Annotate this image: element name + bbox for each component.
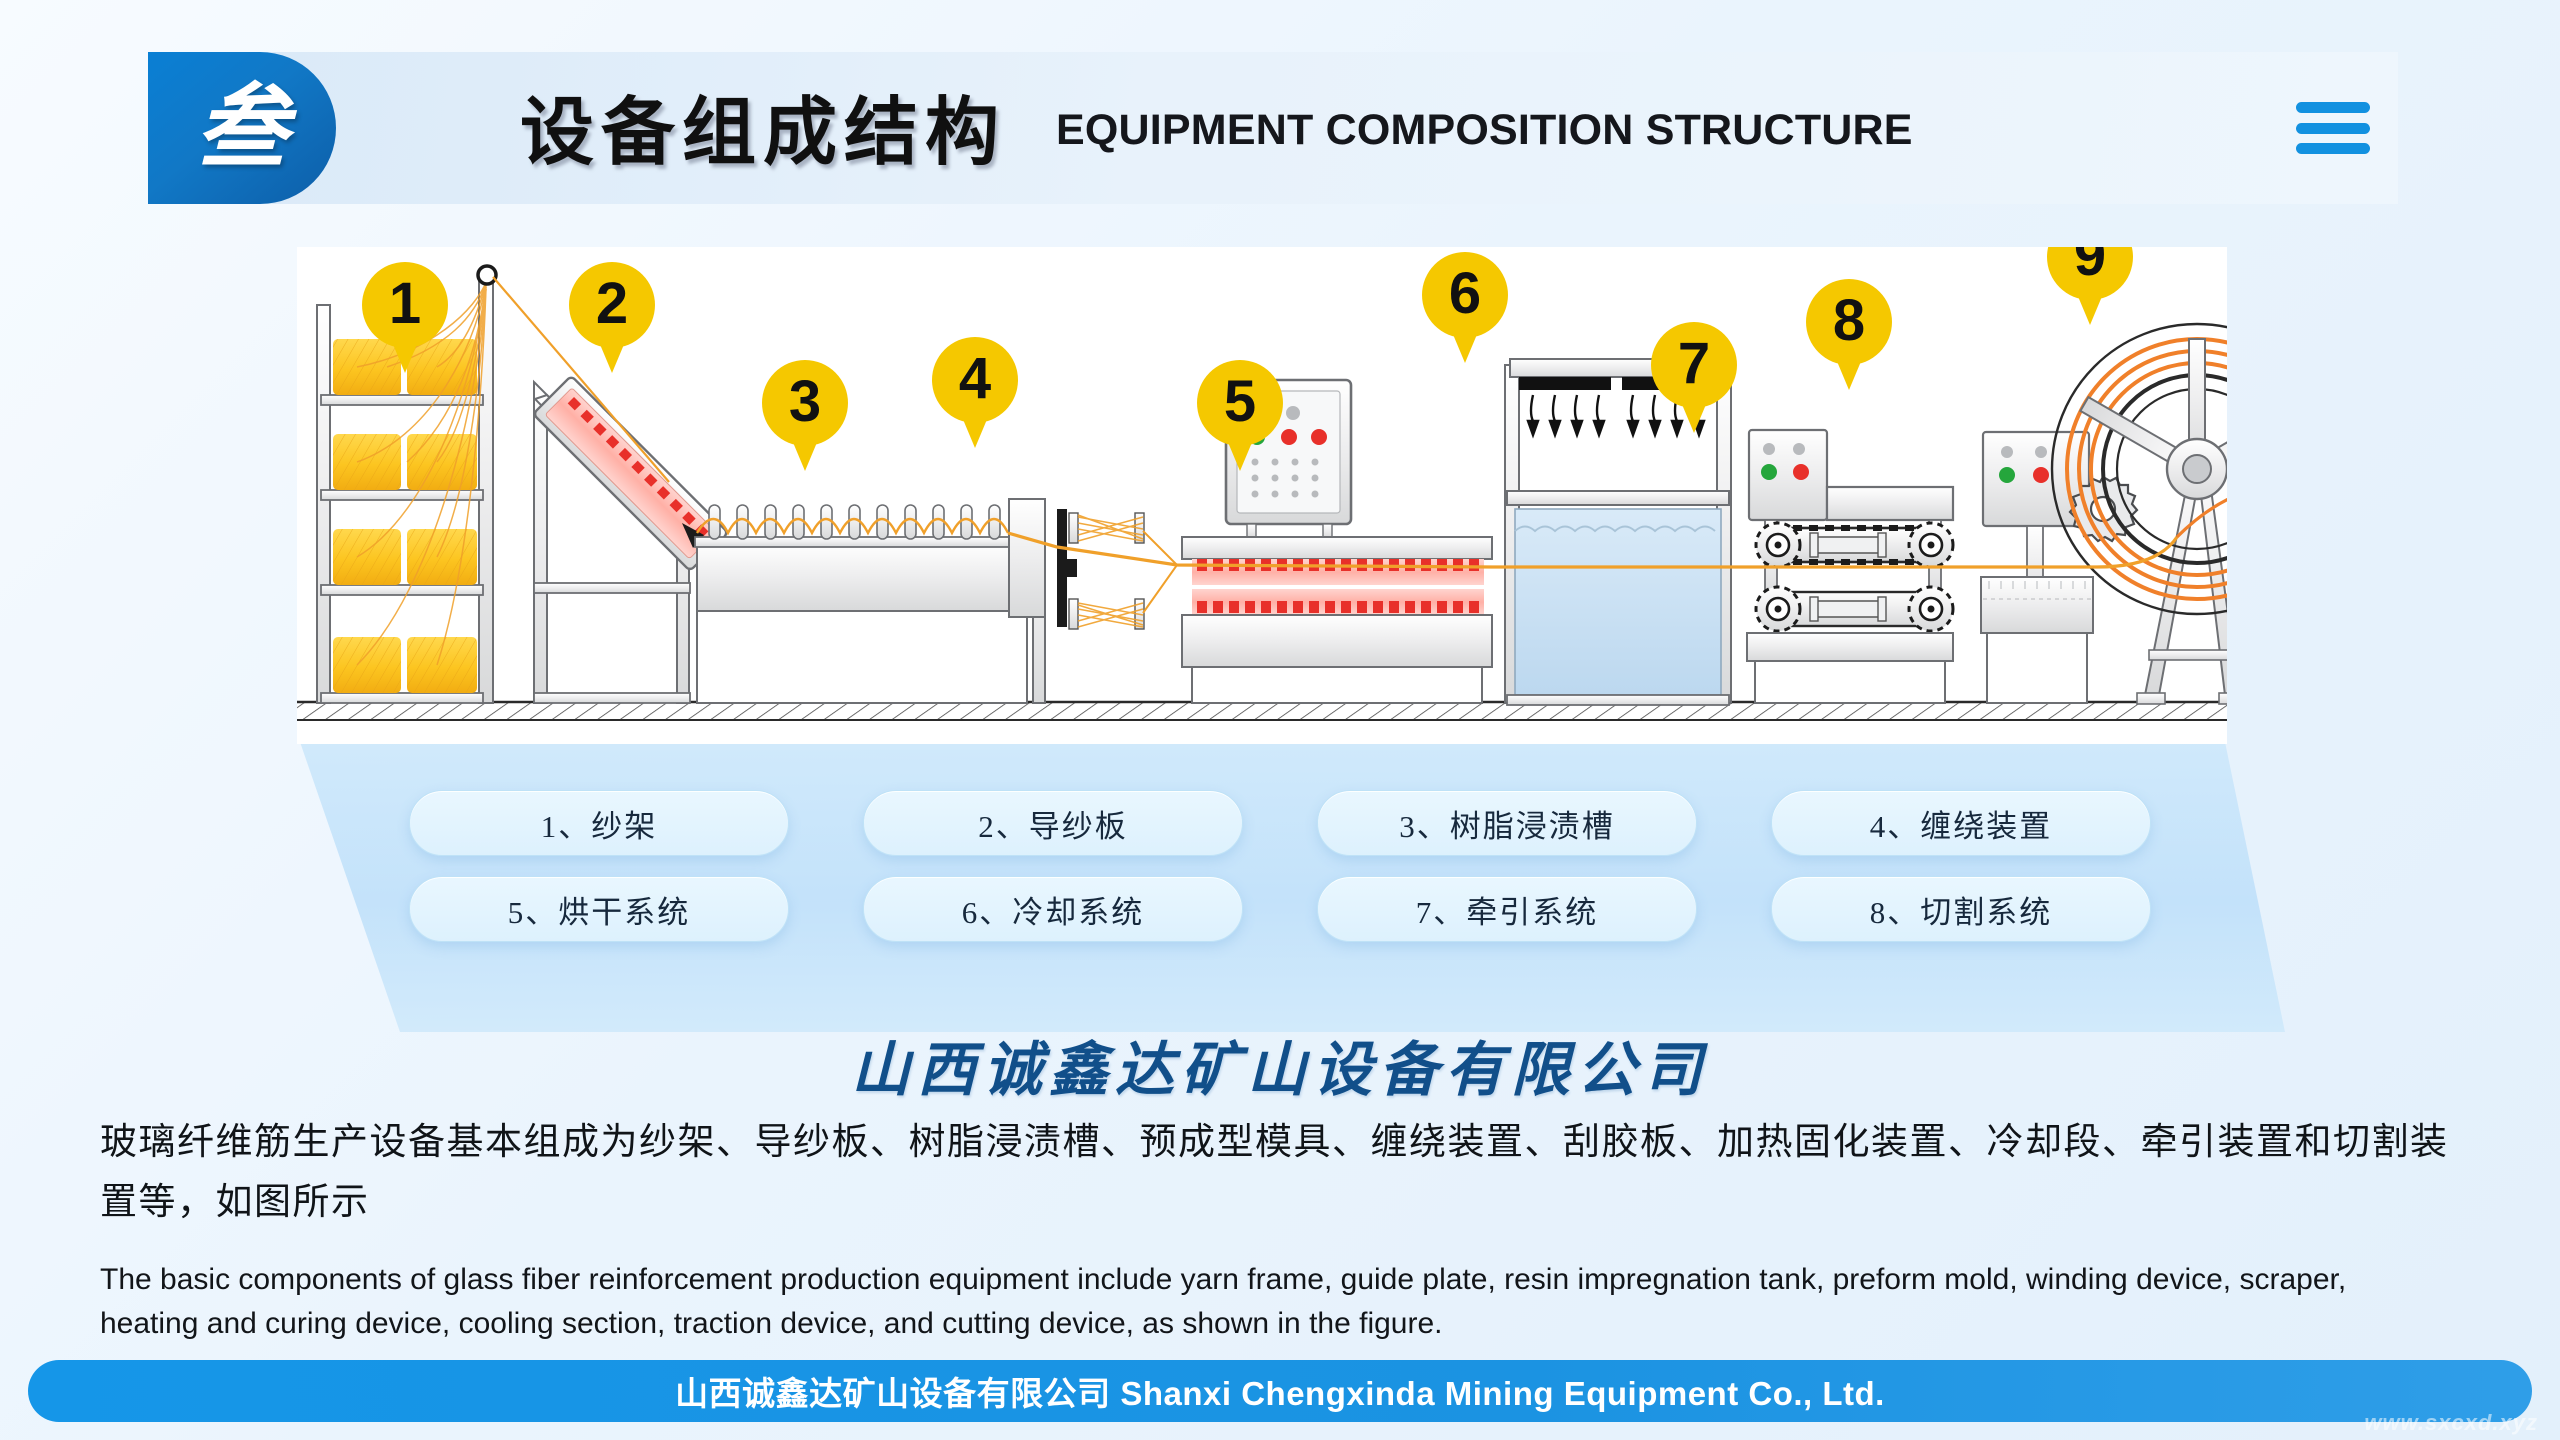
component-label-4[interactable]: 4、缠绕装置 [1771,790,2151,856]
hamburger-menu-icon[interactable] [2296,102,2370,154]
component-label-5[interactable]: 5、烘干系统 [409,876,789,942]
svg-text:2: 2 [596,271,628,336]
company-name-heading: 山西诚鑫达矿山设备有限公司 [0,1022,2560,1107]
callout-pin-4: 4 [932,337,1018,448]
component-label-1[interactable]: 1、纱架 [409,790,789,856]
hamburger-bar-3 [2296,143,2370,154]
yarn-eyelet [478,266,496,284]
svg-text:5: 5 [1224,369,1256,434]
description-en: The basic components of glass fiber rein… [100,1258,2430,1345]
section-number-char: 叁 [196,82,288,174]
resin-impregnation-assembly [695,505,1029,703]
callout-pin-8: 8 [1806,279,1892,390]
page-title-en: EQUIPMENT COMPOSITION STRUCTURE [1056,106,1913,155]
callout-pin-9: 9 [2047,247,2133,325]
guide-pins [709,505,1000,539]
svg-text:8: 8 [1833,288,1865,353]
callout-pin-2: 2 [569,262,655,373]
component-label-8[interactable]: 8、切割系统 [1771,876,2151,942]
component-label-2[interactable]: 2、导纱板 [863,790,1243,856]
page-header: 叁 设备组成结构 EQUIPMENT COMPOSITION STRUCTURE [148,52,2398,204]
footer-company-text: 山西诚鑫达矿山设备有限公司 Shanxi Chengxinda Mining E… [675,1367,1885,1415]
svg-text:6: 6 [1449,261,1481,326]
svg-text:1: 1 [389,271,421,336]
component-label-3[interactable]: 3、树脂浸渍槽 [1317,790,1697,856]
svg-text:9: 9 [2074,247,2106,288]
description-cn: 玻璃纤维筋生产设备基本组成为纱架、导纱板、树脂浸渍槽、预成型模具、缠绕装置、刮胶… [100,1113,2470,1233]
cooling-water-tank [1515,509,1721,695]
winding-device-assembly [1009,499,1177,703]
component-label-row-1: 1、纱架 2、导纱板 3、树脂浸渍槽 4、缠绕装置 [0,790,2560,856]
hamburger-bar-2 [2296,123,2370,134]
winding-threads [1078,515,1143,627]
yarn-packages [333,339,477,693]
component-label-row-2: 5、烘干系统 6、冷却系统 7、牵引系统 8、切割系统 [0,876,2560,942]
equipment-diagram-panel: 1 2 3 4 5 6 7 8 9 [297,247,2227,744]
component-label-7[interactable]: 7、牵引系统 [1317,876,1697,942]
svg-text:3: 3 [789,369,821,434]
section-number-badge: 叁 [148,52,336,204]
site-watermark: www.sxcxd.xyz [2364,1410,2538,1436]
svg-text:7: 7 [1678,331,1710,396]
page-title-cn: 设备组成结构 [520,72,1006,179]
diagram-floor [297,702,2227,720]
callout-pin-6: 6 [1422,252,1508,363]
page-footer: 山西诚鑫达矿山设备有限公司 Shanxi Chengxinda Mining E… [28,1360,2532,1422]
component-label-6[interactable]: 6、冷却系统 [863,876,1243,942]
hamburger-bar-1 [2296,102,2370,113]
svg-text:4: 4 [959,346,991,411]
component-label-grid: 1、纱架 2、导纱板 3、树脂浸渍槽 4、缠绕装置 5、烘干系统 6、冷却系统 … [0,790,2560,962]
callout-pin-3: 3 [762,360,848,471]
